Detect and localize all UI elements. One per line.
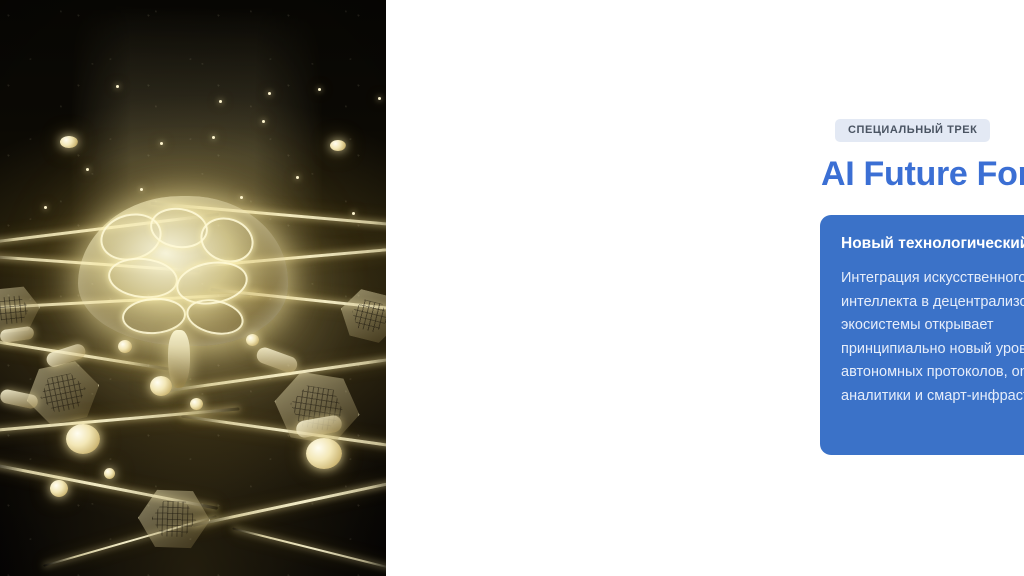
highlight-card: Новый технологический цикл Интеграция ис… bbox=[820, 215, 1024, 455]
slide-title: AI Future Forum: AI + Web3 bbox=[821, 154, 1024, 194]
highlight-card-heading: Новый технологический цикл bbox=[841, 234, 1024, 254]
image-vignette bbox=[0, 0, 386, 576]
slide-content-panel: СПЕЦИАЛЬНЫЙ ТРЕК AI Future Forum: AI + W… bbox=[386, 0, 1024, 576]
highlight-card-body: Интеграция искусственного интеллекта в д… bbox=[841, 267, 1024, 408]
presentation-slide: СПЕЦИАЛЬНЫЙ ТРЕК AI Future Forum: AI + W… bbox=[0, 0, 1024, 576]
track-badge: СПЕЦИАЛЬНЫЙ ТРЕК bbox=[835, 119, 990, 142]
hero-image-brain-neural-network bbox=[0, 0, 386, 576]
